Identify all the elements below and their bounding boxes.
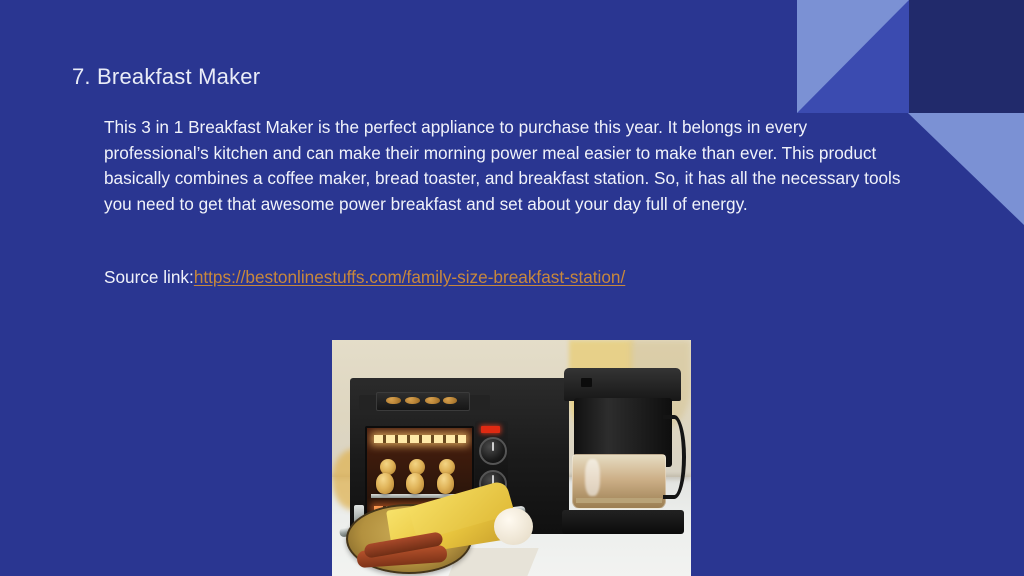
carafe-highlight <box>585 459 600 496</box>
coffee-maker <box>562 368 684 533</box>
coffee-maker-lid[interactable] <box>564 368 681 401</box>
decor-light-triangle-upper <box>797 0 909 113</box>
product-image-scene <box>332 340 691 576</box>
source-line: Source link:https://bestonlinestuffs.com… <box>104 265 625 289</box>
product-image <box>332 340 691 576</box>
carafe-handle <box>663 415 687 499</box>
oven-biscuit <box>437 473 455 494</box>
carafe-rim <box>576 498 661 503</box>
oven-biscuit <box>376 473 394 494</box>
source-link[interactable]: https://bestonlinestuffs.com/family-size… <box>194 267 625 287</box>
coffee-maker-base <box>562 510 684 533</box>
power-indicator-light <box>481 426 500 433</box>
oven-biscuit <box>406 473 424 494</box>
slide: 7. Breakfast Maker This 3 in 1 Breakfast… <box>0 0 1024 576</box>
decor-navy-block <box>893 0 1024 113</box>
body-paragraph: This 3 in 1 Breakfast Maker is the perfe… <box>104 115 916 217</box>
griddle-tray <box>376 392 470 411</box>
oven-heating-element-top <box>374 435 466 443</box>
temperature-knob[interactable] <box>479 437 507 465</box>
page-title: 7. Breakfast Maker <box>72 64 260 90</box>
griddle-patty <box>405 397 421 405</box>
boiled-egg <box>494 508 533 546</box>
source-label: Source link: <box>104 267 194 287</box>
body-text: This 3 in 1 Breakfast Maker is the perfe… <box>104 115 916 217</box>
decor-light-triangle-lower <box>908 113 1024 225</box>
griddle-patty <box>443 397 457 405</box>
griddle-patty <box>386 397 401 405</box>
griddle-patty <box>425 397 440 405</box>
coffee-carafe <box>572 454 667 509</box>
